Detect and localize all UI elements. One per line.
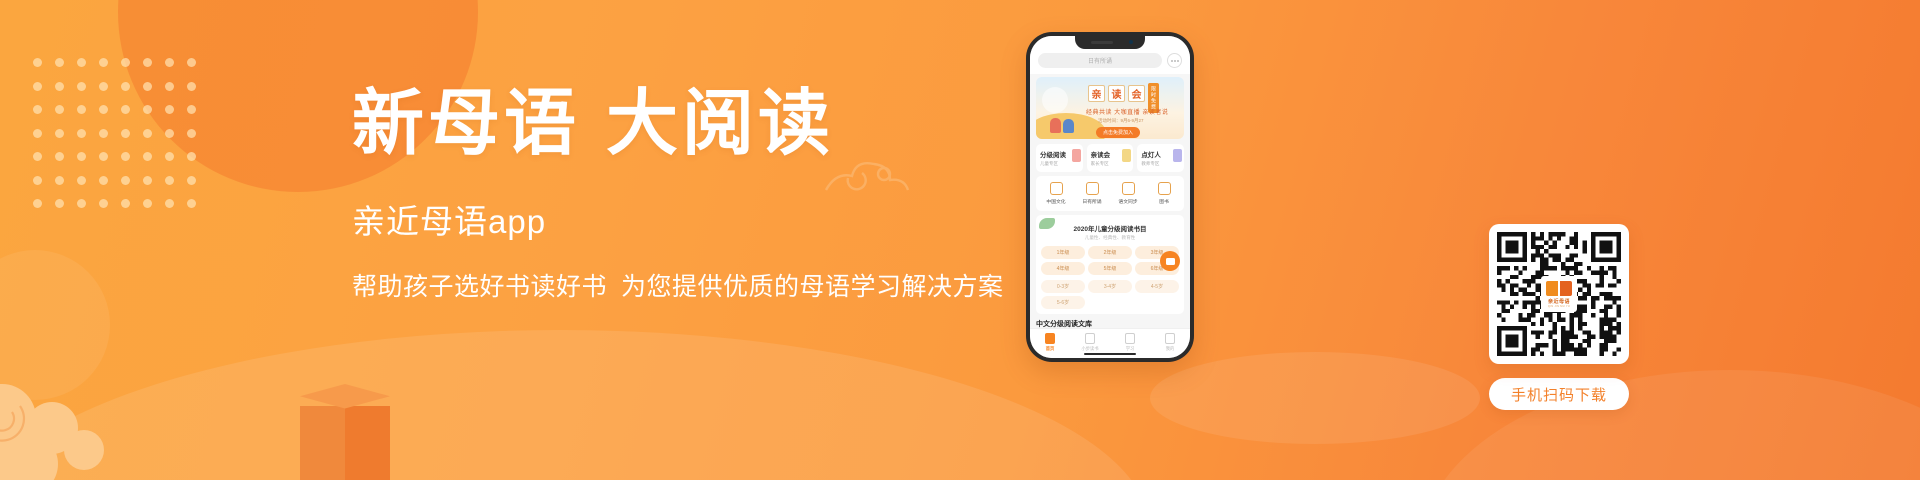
qr-code[interactable]: 亲近母语 QIN JIN MU YU <box>1489 224 1629 364</box>
bookmark-icon <box>1173 149 1182 162</box>
promo-title-char: 读 <box>1108 85 1125 102</box>
home-indicator <box>1084 353 1136 356</box>
decor-dot <box>99 105 108 114</box>
decor-dot-grid <box>33 58 209 223</box>
decor-dot <box>143 105 152 114</box>
category-card[interactable]: 分级阅读儿童专区 <box>1036 144 1083 172</box>
decor-dot <box>55 82 64 91</box>
user-icon <box>1165 333 1175 344</box>
category-card[interactable]: 点灯人教师专区 <box>1137 144 1184 172</box>
age-chip[interactable]: 0-3岁 <box>1041 280 1085 293</box>
brand-name: 亲近母语 <box>1548 298 1570 305</box>
phone-mockup: 日有所诵 亲读会 限时免费 经典共读 大咖直播 亲读者说 活动时间：9月6-9月… <box>1026 32 1194 362</box>
quick-icon-item[interactable]: 日有所诵 <box>1074 182 1110 205</box>
quick-icon-item[interactable]: 语文同步 <box>1110 182 1146 205</box>
clipboard-icon <box>1125 333 1135 344</box>
decor-dot <box>99 176 108 185</box>
decor-dot <box>33 105 42 114</box>
video-icon[interactable] <box>1160 251 1180 271</box>
grade-chip[interactable]: 1年级 <box>1041 246 1085 259</box>
quick-icon-label: 语文同步 <box>1110 198 1146 205</box>
decor-dot <box>165 152 174 161</box>
tab-label: 首页 <box>1030 346 1070 352</box>
decor-dot <box>55 176 64 185</box>
decor-dot <box>33 176 42 185</box>
tagline-part-1: 帮助孩子选好书读好书 <box>352 273 607 301</box>
decor-dot <box>121 105 130 114</box>
decor-dot <box>99 82 108 91</box>
app-promo-banner[interactable]: 亲读会 限时免费 经典共读 大咖直播 亲读者说 活动时间：9月6-9月27 点击… <box>1036 77 1184 139</box>
more-icon[interactable] <box>1167 53 1182 68</box>
decor-dot <box>55 105 64 114</box>
book-icon <box>1085 333 1095 344</box>
download-button[interactable]: 手机扫码下载 <box>1489 378 1629 410</box>
kids-illustration <box>1050 115 1080 133</box>
brand-logo: 亲近母语 QIN JIN MU YU <box>1541 276 1577 312</box>
decor-dot <box>121 82 130 91</box>
grade-chip[interactable]: 5年级 <box>1088 262 1132 275</box>
age-chip[interactable]: 3-4岁 <box>1088 280 1132 293</box>
decor-dot <box>77 58 86 67</box>
sun-decor-icon <box>1042 87 1068 113</box>
decor-dot <box>77 82 86 91</box>
tab-home[interactable]: 首页 <box>1030 333 1070 352</box>
tab-user[interactable]: 我的 <box>1150 333 1190 352</box>
decor-dot <box>33 199 42 208</box>
quick-icon-item[interactable]: 中国文化 <box>1038 182 1074 205</box>
qr-block: 亲近母语 QIN JIN MU YU 手机扫码下载 <box>1489 224 1629 410</box>
decor-dot <box>121 129 130 138</box>
decor-hill <box>0 330 1150 480</box>
booklist-title: 2020年儿童分级阅读书目 <box>1041 223 1179 233</box>
decor-dot <box>121 176 130 185</box>
vase-icon <box>1050 182 1063 195</box>
decor-dot <box>143 58 152 67</box>
booklist-section: 2020年儿童分级阅读书目 儿童性、经典性、教育性 1年级2年级3年级4年级5年… <box>1036 215 1184 314</box>
tab-label: 小步读书 <box>1070 346 1110 352</box>
promo-title-char: 会 <box>1128 85 1145 102</box>
promo-title: 亲读会 <box>1088 85 1145 102</box>
decor-dot <box>187 58 196 67</box>
headline-line-1: 新母语 <box>352 84 580 164</box>
age-chip[interactable]: 4-5岁 <box>1135 280 1179 293</box>
search-input[interactable]: 日有所诵 <box>1038 53 1162 68</box>
cloud-icon <box>0 366 166 480</box>
category-card[interactable]: 亲读会家长专区 <box>1087 144 1134 172</box>
books-icon <box>1158 182 1171 195</box>
booklist-subtitle: 儿童性、经典性、教育性 <box>1041 235 1179 241</box>
decor-dot <box>33 129 42 138</box>
brand-pinyin: QIN JIN MU YU <box>1548 305 1570 308</box>
decor-dot <box>143 152 152 161</box>
decor-dot <box>77 152 86 161</box>
app-name-subtitle: 亲近母语app <box>352 202 1052 242</box>
tab-clipboard[interactable]: 学习 <box>1110 333 1150 352</box>
decor-dot <box>33 152 42 161</box>
decor-dot <box>33 82 42 91</box>
promo-banner: 新母语大阅读 亲近母语app 帮助孩子选好书读好书为您提供优质的母语学习解决方案… <box>0 0 1920 480</box>
phone-notch <box>1075 36 1145 49</box>
chat-icon <box>1122 182 1135 195</box>
decor-dot <box>187 129 196 138</box>
decor-dot <box>165 199 174 208</box>
decor-dot <box>77 105 86 114</box>
age-chip[interactable]: 5-6岁 <box>1041 296 1085 309</box>
book-open-icon <box>1086 182 1099 195</box>
promo-join-button[interactable]: 点击免费加入 <box>1096 127 1140 138</box>
phone-screen: 日有所诵 亲读会 限时免费 经典共读 大咖直播 亲读者说 活动时间：9月6-9月… <box>1030 36 1190 358</box>
page-title: 新母语大阅读 <box>352 88 1052 160</box>
decor-dot <box>33 58 42 67</box>
decor-dot <box>55 152 64 161</box>
tagline: 帮助孩子选好书读好书为您提供优质的母语学习解决方案 <box>352 271 1052 304</box>
quick-icon-row: 中国文化日有所诵语文同步图书 <box>1036 176 1184 211</box>
book-icon <box>1546 281 1572 296</box>
decor-dot <box>99 152 108 161</box>
decor-dot <box>143 176 152 185</box>
decor-dot <box>143 129 152 138</box>
promo-subtitle: 经典共读 大咖直播 亲读者说 <box>1086 107 1168 116</box>
decor-dot <box>99 199 108 208</box>
promo-title-char: 亲 <box>1088 85 1105 102</box>
decor-dot <box>121 58 130 67</box>
headline-block: 新母语大阅读 亲近母语app 帮助孩子选好书读好书为您提供优质的母语学习解决方案 <box>352 88 1052 303</box>
decor-dot <box>99 129 108 138</box>
grade-chip[interactable]: 2年级 <box>1088 246 1132 259</box>
decor-dot <box>187 82 196 91</box>
tab-label: 学习 <box>1110 346 1150 352</box>
decor-dot <box>77 129 86 138</box>
decor-dot <box>165 82 174 91</box>
age-chip-list: 0-3岁3-4岁4-5岁5-6岁 <box>1041 280 1179 309</box>
speaker-icon <box>1091 41 1113 44</box>
bookmark-icon <box>1122 149 1131 162</box>
decor-dot <box>187 152 196 161</box>
category-card-list: 分级阅读儿童专区亲读会家长专区点灯人教师专区 <box>1036 144 1184 172</box>
grade-chip[interactable]: 4年级 <box>1041 262 1085 275</box>
decor-circle-left <box>0 250 110 400</box>
promo-date: 活动时间：9月6-9月27 <box>1098 118 1144 124</box>
decor-dot <box>187 105 196 114</box>
decor-dot <box>187 176 196 185</box>
decor-dot <box>99 58 108 67</box>
camera-icon <box>1129 40 1133 44</box>
decor-dot <box>165 176 174 185</box>
decor-dot <box>55 199 64 208</box>
decor-dot <box>165 58 174 67</box>
quick-icon-label: 中国文化 <box>1038 198 1074 205</box>
decor-dot <box>121 152 130 161</box>
decor-dot <box>55 58 64 67</box>
decor-dot <box>165 105 174 114</box>
decor-dot <box>143 199 152 208</box>
decor-dot <box>121 199 130 208</box>
decor-dot <box>55 129 64 138</box>
decor-dot <box>77 199 86 208</box>
quick-icon-item[interactable]: 图书 <box>1146 182 1182 205</box>
tab-label: 我的 <box>1150 346 1190 352</box>
home-icon <box>1045 333 1055 344</box>
bookmark-icon <box>1072 149 1081 162</box>
headline-line-2: 大阅读 <box>606 84 834 164</box>
quick-icon-label: 日有所诵 <box>1074 198 1110 205</box>
decor-dot <box>165 129 174 138</box>
decor-cube <box>300 384 390 480</box>
decor-phone-shadow-ellipse <box>1150 352 1480 444</box>
decor-dot <box>77 176 86 185</box>
quick-icon-label: 图书 <box>1146 198 1182 205</box>
decor-dot <box>143 82 152 91</box>
tab-book[interactable]: 小步读书 <box>1070 333 1110 352</box>
grade-chip-list: 1年级2年级3年级4年级5年级6年级 <box>1041 246 1179 275</box>
tagline-part-2: 为您提供优质的母语学习解决方案 <box>621 273 1004 301</box>
decor-dot <box>187 199 196 208</box>
